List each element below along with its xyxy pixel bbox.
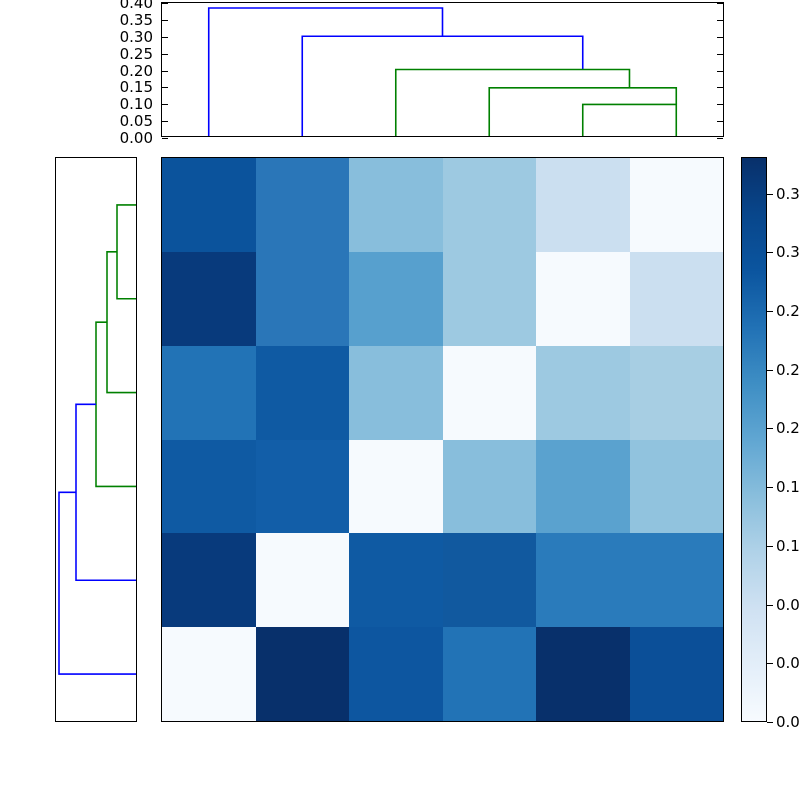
axis-tick-label: 0.35 bbox=[120, 11, 153, 29]
clustermap-figure: 0.000.050.100.150.200.250.300.350.40 0.0… bbox=[0, 0, 800, 800]
heatmap-cell bbox=[162, 533, 256, 627]
axis-tick-label: 0.10 bbox=[120, 95, 153, 113]
heatmap-cell bbox=[630, 440, 724, 534]
heatmap-cell bbox=[256, 533, 350, 627]
dendrogram-link bbox=[59, 492, 136, 674]
colorbar-tick-mark bbox=[767, 428, 773, 429]
colorbar-tick-label: 0.24 bbox=[776, 361, 800, 379]
heatmap-cell bbox=[536, 158, 630, 252]
colorbar-tick-mark bbox=[767, 370, 773, 371]
colorbar-tick-mark bbox=[767, 487, 773, 488]
axis-tick-label: 0.05 bbox=[120, 112, 153, 130]
colorbar-tick-label: 0.28 bbox=[776, 302, 800, 320]
heatmap-cell bbox=[443, 252, 537, 346]
axis-tick-mark bbox=[162, 138, 168, 139]
heatmap-cell bbox=[536, 627, 630, 721]
axis-tick-label: 0.15 bbox=[120, 78, 153, 96]
heatmap-panel bbox=[161, 157, 724, 722]
colorbar-tick-label: 0.36 bbox=[776, 185, 800, 203]
axis-tick-label: 0.40 bbox=[120, 0, 153, 12]
heatmap-cell bbox=[536, 346, 630, 440]
colorbar-tick-mark bbox=[767, 663, 773, 664]
heatmap-cell bbox=[630, 252, 724, 346]
dendrogram-link bbox=[107, 252, 136, 393]
colorbar-tick-mark bbox=[767, 311, 773, 312]
heatmap-cell bbox=[162, 440, 256, 534]
colorbar-tick-mark bbox=[767, 252, 773, 253]
heatmap-cell bbox=[443, 627, 537, 721]
colorbar-tick-label: 0.16 bbox=[776, 478, 800, 496]
heatmap-cell bbox=[349, 627, 443, 721]
heatmap-cell bbox=[536, 533, 630, 627]
colorbar-ticks: 0.000.040.080.120.160.200.240.280.320.36 bbox=[741, 157, 767, 722]
heatmap-cell bbox=[443, 440, 537, 534]
dendrogram-link bbox=[96, 322, 136, 486]
colorbar-tick-label: 0.32 bbox=[776, 243, 800, 261]
heatmap-cell bbox=[162, 252, 256, 346]
colorbar-tick-mark bbox=[767, 605, 773, 606]
dendrogram-link bbox=[117, 205, 136, 299]
heatmap-grid bbox=[162, 158, 723, 721]
heatmap-cell bbox=[256, 440, 350, 534]
heatmap-cell bbox=[630, 346, 724, 440]
colorbar-tick-mark bbox=[767, 546, 773, 547]
dendrogram-link bbox=[76, 404, 136, 580]
heatmap-cell bbox=[256, 627, 350, 721]
heatmap-cell bbox=[349, 346, 443, 440]
axis-tick-mark bbox=[717, 138, 723, 139]
axis-tick-label: 0.00 bbox=[120, 129, 153, 147]
row-dendrogram-panel bbox=[55, 157, 137, 722]
heatmap-cell bbox=[162, 158, 256, 252]
colorbar-tick-label: 0.00 bbox=[776, 713, 800, 731]
colorbar-tick-mark bbox=[767, 194, 773, 195]
heatmap-cell bbox=[630, 627, 724, 721]
heatmap-cell bbox=[256, 346, 350, 440]
dendrogram-link bbox=[583, 104, 677, 136]
row-dendrogram-links bbox=[56, 158, 136, 721]
colorbar-tick-mark bbox=[767, 722, 773, 723]
heatmap-cell bbox=[630, 533, 724, 627]
heatmap-cell bbox=[536, 440, 630, 534]
heatmap-cell bbox=[162, 346, 256, 440]
axis-tick-label: 0.25 bbox=[120, 45, 153, 63]
heatmap-cell bbox=[349, 440, 443, 534]
colorbar-tick-label: 0.12 bbox=[776, 537, 800, 555]
heatmap-cell bbox=[256, 158, 350, 252]
colorbar-tick-label: 0.20 bbox=[776, 419, 800, 437]
heatmap-cell bbox=[256, 252, 350, 346]
heatmap-cell bbox=[443, 533, 537, 627]
heatmap-cell bbox=[443, 158, 537, 252]
heatmap-cell bbox=[443, 346, 537, 440]
column-dendrogram-links bbox=[162, 3, 723, 136]
heatmap-cell bbox=[349, 252, 443, 346]
colorbar-tick-label: 0.04 bbox=[776, 654, 800, 672]
column-dendrogram-panel: 0.000.050.100.150.200.250.300.350.40 bbox=[161, 2, 724, 137]
dendrogram-link bbox=[396, 70, 630, 137]
heatmap-cell bbox=[630, 158, 724, 252]
heatmap-cell bbox=[536, 252, 630, 346]
heatmap-cell bbox=[349, 533, 443, 627]
colorbar-tick-label: 0.08 bbox=[776, 596, 800, 614]
heatmap-cell bbox=[162, 627, 256, 721]
dendrogram-link bbox=[209, 8, 443, 136]
dendrogram-link bbox=[302, 36, 583, 136]
axis-tick-label: 0.20 bbox=[120, 62, 153, 80]
heatmap-cell bbox=[349, 158, 443, 252]
axis-tick-label: 0.30 bbox=[120, 28, 153, 46]
